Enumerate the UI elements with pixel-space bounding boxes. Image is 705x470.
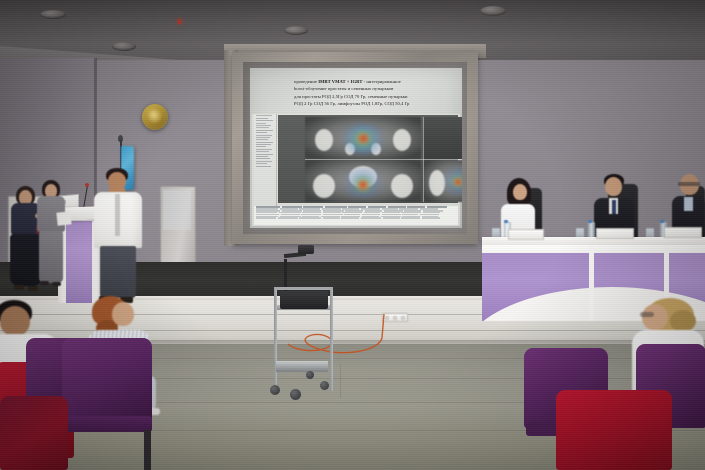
table-row (254, 217, 458, 219)
crosshair-horizontal (305, 159, 462, 160)
bottle-cap (588, 220, 592, 223)
caster-wheel-icon (270, 385, 280, 395)
nameplate (664, 227, 702, 238)
nameplate (508, 229, 544, 240)
documents (56, 211, 71, 225)
auditorium-photo: проведение IMRT VMAT + IGRT - интегриров… (0, 0, 705, 470)
hair-bun (670, 310, 696, 332)
woman-grey-suit (33, 180, 69, 302)
ct-sagittal (423, 160, 462, 202)
podium-front-panel (66, 221, 92, 303)
overhead-projector-cart (262, 243, 358, 411)
projector-head (298, 245, 314, 254)
projector-body (280, 291, 328, 309)
ceiling-speaker-icon (40, 10, 66, 19)
cart-lower-shelf (276, 361, 328, 372)
bottle-cap (660, 220, 664, 223)
male-presenter-white-coat (92, 168, 146, 306)
slide-line-2: boost-облучение простаты и семенных пузы… (294, 85, 458, 92)
ceiling-speaker-icon (284, 26, 308, 35)
emblem-inner (147, 109, 163, 125)
caster-wheel-icon (320, 381, 329, 390)
ct-dark-pane (423, 117, 462, 159)
planning-viewport (278, 115, 458, 203)
cabinet-glass-pane (163, 190, 191, 230)
audience-seat-purple (0, 396, 68, 470)
bottle-cap (504, 220, 508, 223)
planning-sidebar (254, 114, 277, 206)
dress-shirt (684, 197, 693, 211)
audience-seat-red (556, 390, 672, 470)
slide-line-3: для простаты РОД 2,5Гр СОД 70 Гр, семенн… (294, 93, 458, 100)
slide-line-4: РОД 2 Гр СОД 56 Гр, лимфоузлы РОД 1,8Гр,… (294, 100, 458, 107)
kazakhstan-emblem-icon (142, 104, 168, 130)
caster-wheel-icon (290, 389, 301, 400)
nameplate (596, 228, 634, 239)
ct-axial-upper (305, 117, 421, 159)
caster-wheel-icon (306, 371, 314, 379)
dose-volume-table (254, 206, 458, 225)
sunglasses-icon (640, 312, 654, 317)
slide-line-1: проведение IMRT VMAT + IGRT - интегриров… (294, 78, 458, 85)
audience-seat-purple (62, 338, 152, 468)
microphone-icon (85, 183, 89, 187)
ct-axial-lower (305, 160, 421, 202)
eyeglasses-icon (678, 182, 700, 186)
necktie (612, 200, 616, 214)
projection-screen: проведение IMRT VMAT + IGRT - интегриров… (250, 68, 462, 228)
ceiling-speaker-icon (112, 42, 136, 51)
slide-heading-text: проведение IMRT VMAT + IGRT - интегриров… (294, 78, 458, 108)
ceiling-speaker-icon (480, 6, 506, 16)
coat-placket (115, 194, 120, 236)
panel-table-divider (589, 245, 594, 321)
indicator-light-icon (178, 19, 181, 24)
planning-software-ui (252, 114, 460, 226)
